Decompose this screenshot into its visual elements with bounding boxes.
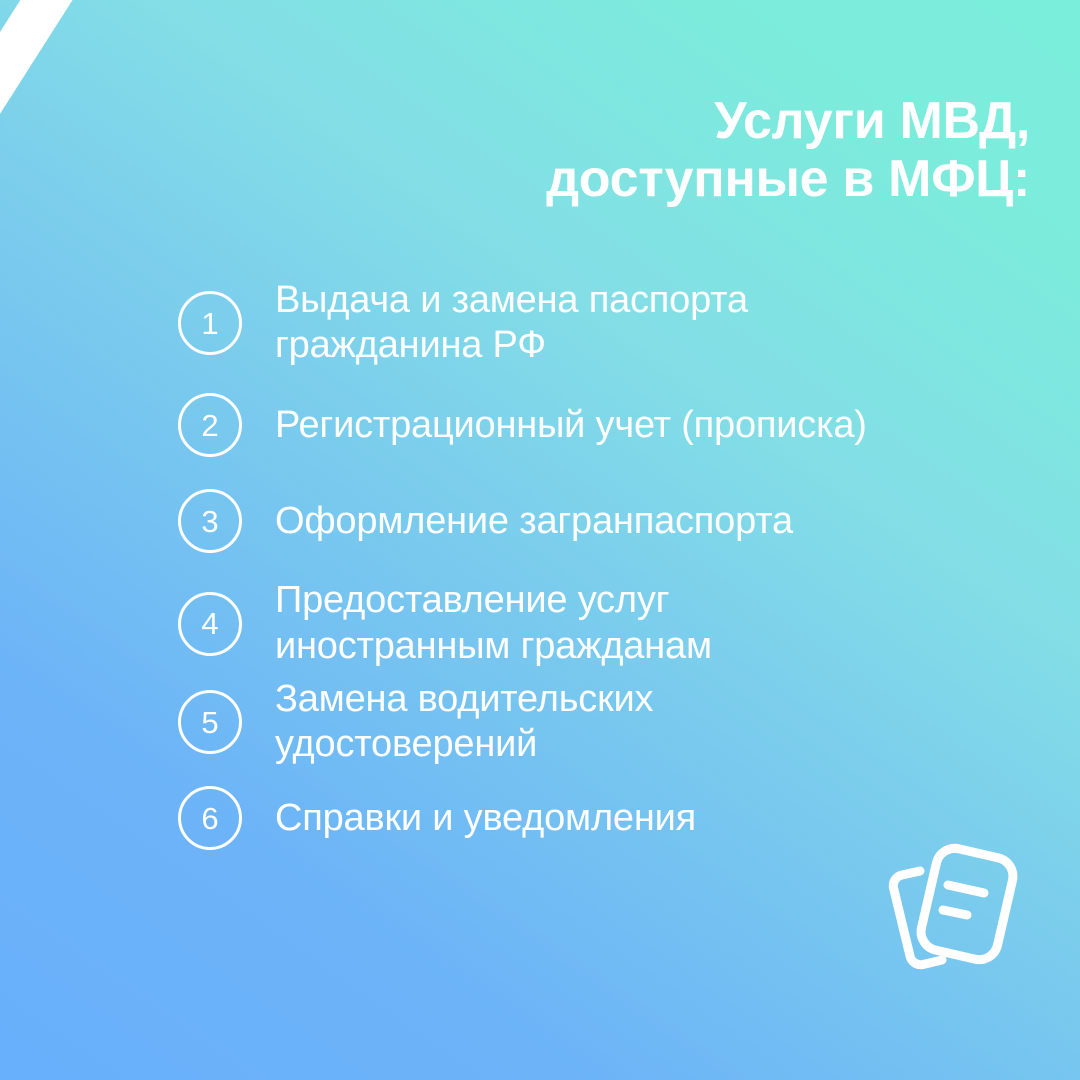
list-item-number-badge: 1: [178, 291, 242, 355]
document-cards-icon: [872, 838, 1032, 988]
diagonal-stripe-decoration: [0, 0, 161, 553]
list-item-label: Справки и уведомления: [275, 796, 696, 841]
list-item-label: Регистрационный учет (прописка): [275, 403, 867, 448]
page-title: Услуги МВД, доступные в МФЦ:: [390, 92, 1030, 208]
list-item-number-badge: 3: [178, 489, 242, 553]
list-item-number-badge: 4: [178, 592, 242, 656]
list-item-label: Предоставление услуг иностранным граждан…: [275, 578, 712, 668]
list-item-number-badge: 5: [178, 690, 242, 754]
list-item-number-badge: 6: [178, 786, 242, 850]
list-item: 2 Регистрационный учет (прописка): [178, 386, 1048, 464]
poster-canvas: Услуги МВД, доступные в МФЦ: 1 Выдача и …: [0, 0, 1080, 1080]
list-item-number-badge: 2: [178, 393, 242, 457]
list-item: 4 Предоставление услуг иностранным гражд…: [178, 578, 1048, 668]
list-item: 5 Замена водительских удостоверений: [178, 677, 1048, 767]
list-item: 1 Выдача и замена паспорта гражданина РФ: [178, 278, 1048, 368]
list-item: 6 Справки и уведомления: [178, 779, 1048, 857]
list-item: 3 Оформление загранпаспорта: [178, 482, 1048, 560]
list-item-label: Выдача и замена паспорта гражданина РФ: [275, 278, 748, 368]
list-item-label: Оформление загранпаспорта: [275, 499, 793, 544]
list-item-label: Замена водительских удостоверений: [275, 677, 653, 767]
services-list: 1 Выдача и замена паспорта гражданина РФ…: [178, 278, 1048, 857]
